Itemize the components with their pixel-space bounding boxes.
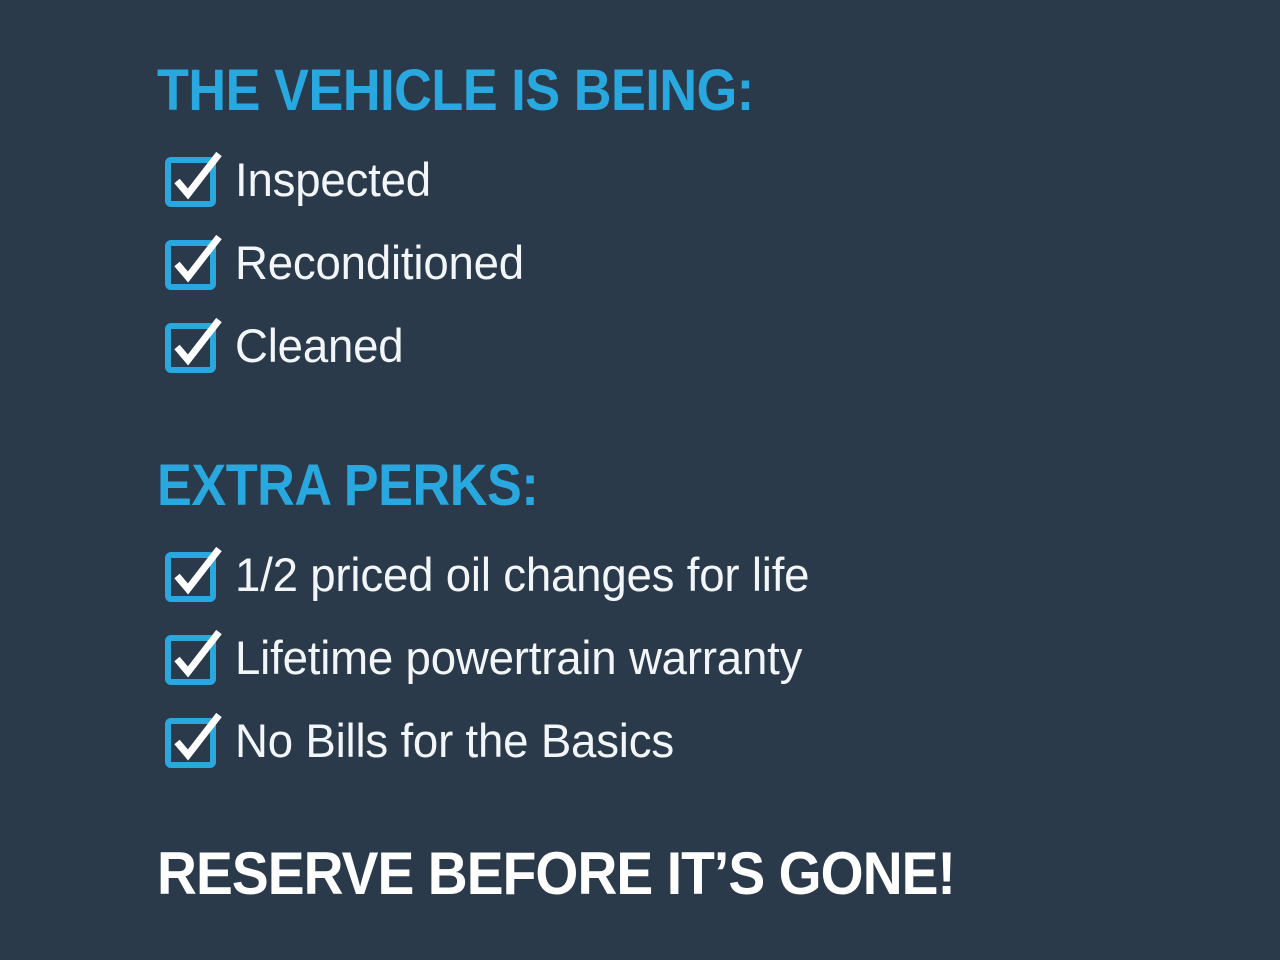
spacer [157,387,1217,457]
list-item-label: 1/2 priced oil changes for life [235,551,809,598]
check-list-extra-perks: 1/2 priced oil changes for life Lifetime… [157,533,1217,782]
list-item[interactable]: Inspected [157,138,1217,221]
content-column: THE VEHICLE IS BEING: Inspected [157,62,1217,904]
spacer [157,782,1217,844]
check-list-vehicle-status: Inspected Reconditioned [157,138,1217,387]
list-item[interactable]: Lifetime powertrain warranty [157,616,1217,699]
checkbox-checked-icon[interactable] [165,152,221,208]
list-item-label: Reconditioned [235,239,524,286]
list-item-label: No Bills for the Basics [235,717,674,764]
cta-headline: RESERVE BEFORE IT’S GONE! [157,844,1132,904]
list-item-label: Cleaned [235,322,403,369]
list-item[interactable]: 1/2 priced oil changes for life [157,533,1217,616]
promo-slide: THE VEHICLE IS BEING: Inspected [0,0,1280,960]
section-vehicle-status: THE VEHICLE IS BEING: Inspected [157,62,1217,387]
section-heading-vehicle-status: THE VEHICLE IS BEING: [157,62,1111,120]
list-item[interactable]: Cleaned [157,304,1217,387]
list-item[interactable]: No Bills for the Basics [157,699,1217,782]
checkbox-checked-icon[interactable] [165,713,221,769]
checkbox-checked-icon[interactable] [165,547,221,603]
list-item-label: Lifetime powertrain warranty [235,634,802,681]
list-item-label: Inspected [235,156,431,203]
list-item[interactable]: Reconditioned [157,221,1217,304]
checkbox-checked-icon[interactable] [165,235,221,291]
section-extra-perks: EXTRA PERKS: 1/2 priced oil changes for … [157,457,1217,782]
checkbox-checked-icon[interactable] [165,630,221,686]
section-heading-extra-perks: EXTRA PERKS: [157,457,1111,515]
checkbox-checked-icon[interactable] [165,318,221,374]
